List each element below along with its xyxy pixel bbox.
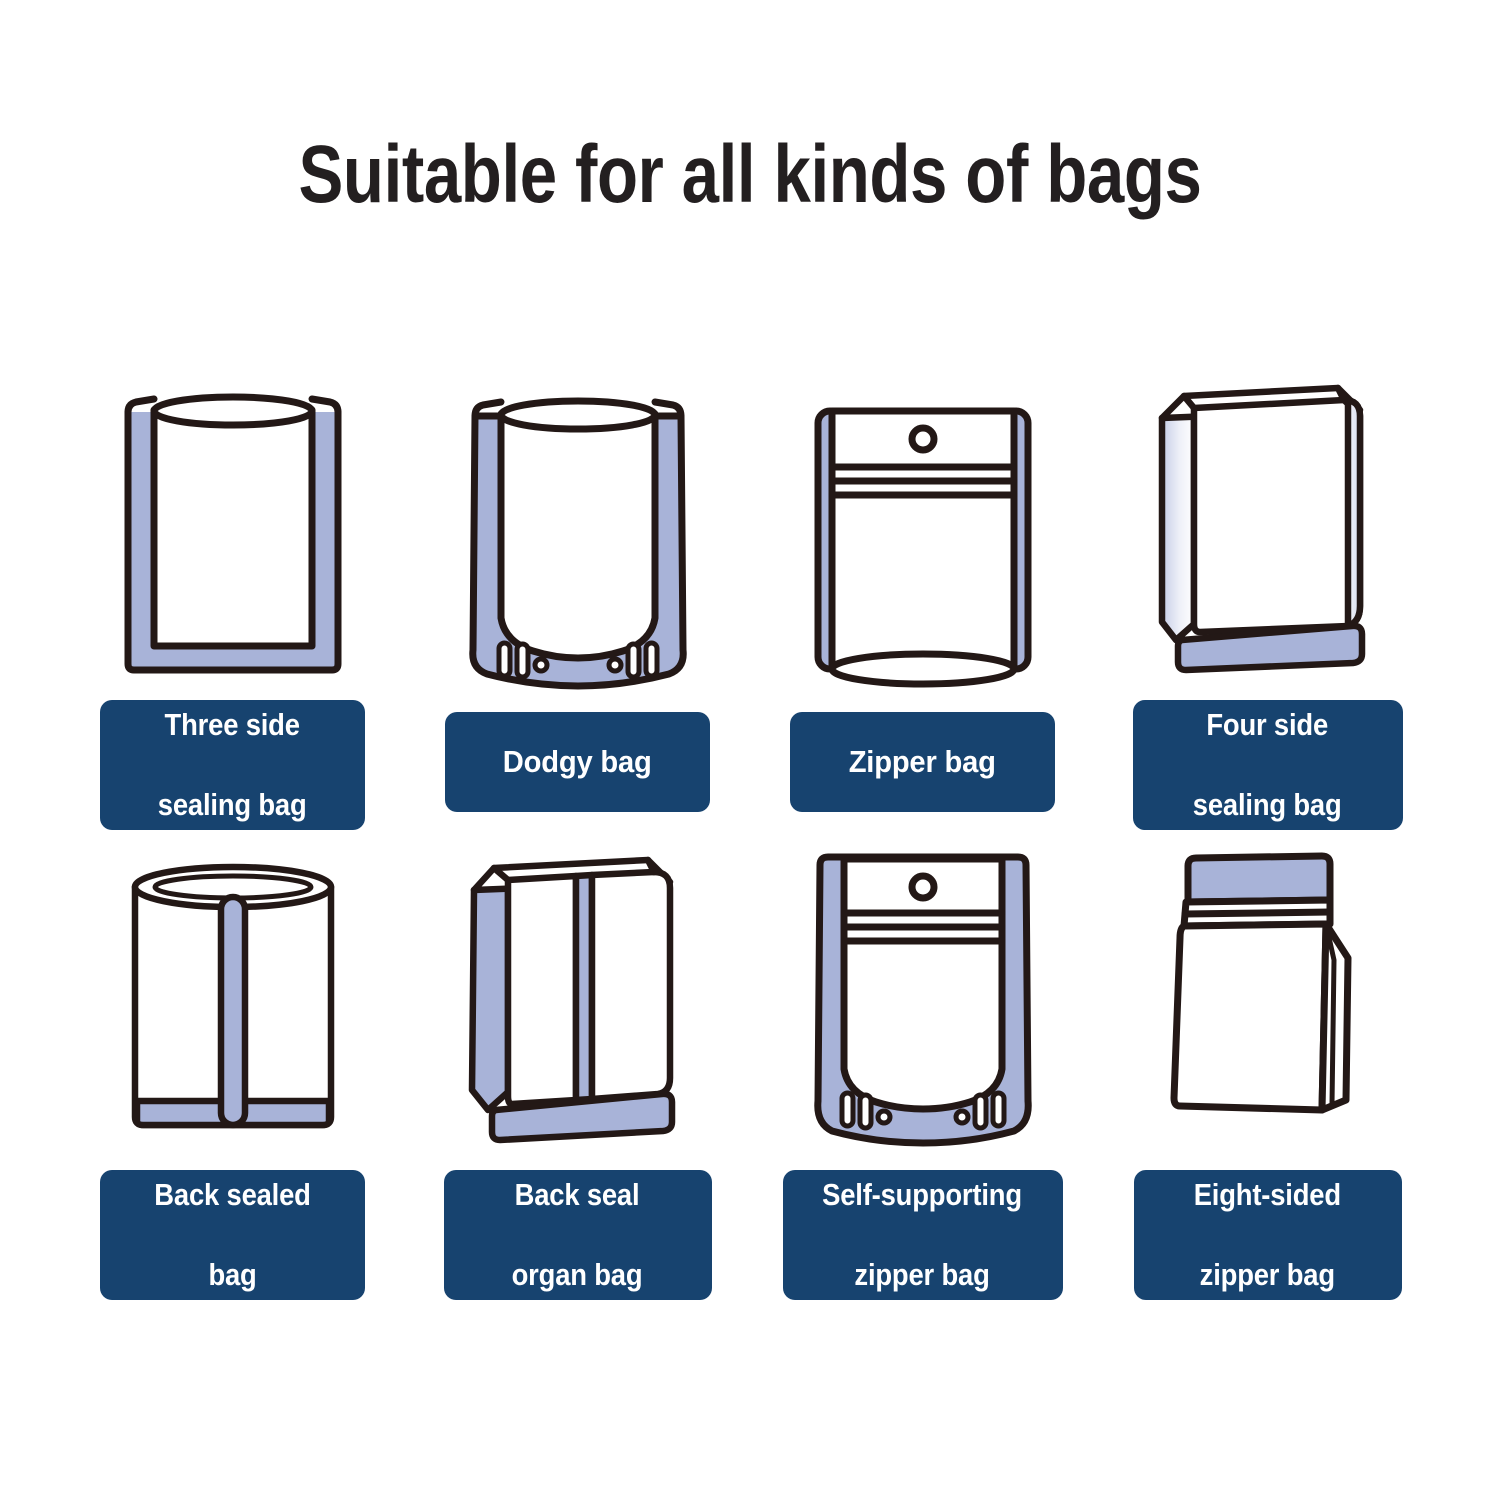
- bag-card-self-supporting-zipper-bag[interactable]: Self-supporting zipper bag: [750, 830, 1095, 1300]
- bag-card-three-side-sealing-bag[interactable]: Three side sealing bag: [60, 360, 405, 830]
- bag-card-zipper-bag[interactable]: Zipper bag: [750, 360, 1095, 830]
- bag-label-line-1: Dodgy bag: [503, 742, 652, 782]
- bag-card-back-sealed-bag[interactable]: Back sealed bag: [60, 830, 405, 1300]
- bag-label-zipper-bag[interactable]: Zipper bag: [790, 712, 1055, 812]
- bag-card-dodgy-bag[interactable]: Dodgy bag: [405, 360, 750, 830]
- bag-card-back-seal-organ-bag[interactable]: Back seal organ bag: [405, 830, 750, 1300]
- bag-label-line-1: Self-supporting: [823, 1175, 1023, 1215]
- bag-label-line-2: sealing bag: [1193, 785, 1342, 825]
- bag-card-four-side-sealing-bag[interactable]: Four side sealing bag: [1095, 360, 1440, 830]
- bag-type-grid: Three side sealing bag: [60, 360, 1440, 1300]
- bag-label-line-2: organ bag: [512, 1255, 643, 1295]
- bag-label-back-seal-organ-bag[interactable]: Back seal organ bag: [444, 1170, 712, 1301]
- bag-label-line-2: zipper bag: [823, 1255, 1023, 1295]
- bag-illustration-back-seal-organ-bag: [405, 830, 750, 1148]
- bag-label-line-1: Three side: [158, 705, 307, 745]
- bag-label-line-2: bag: [154, 1255, 310, 1295]
- bag-label-line-1: Zipper bag: [849, 742, 996, 782]
- bag-illustration-three-side-sealing-bag: [60, 360, 405, 678]
- bag-label-line-2: zipper bag: [1194, 1255, 1341, 1295]
- bag-label-three-side-sealing-bag[interactable]: Three side sealing bag: [100, 700, 365, 831]
- bag-label-four-side-sealing-bag[interactable]: Four side sealing bag: [1133, 700, 1403, 831]
- bag-label-self-supporting-zipper-bag[interactable]: Self-supporting zipper bag: [783, 1170, 1063, 1301]
- bag-label-line-1: Eight-sided: [1194, 1175, 1341, 1215]
- bag-illustration-back-sealed-bag: [60, 830, 405, 1148]
- bag-illustration-four-side-sealing-bag: [1095, 360, 1440, 678]
- bag-label-line-1: Four side: [1193, 705, 1342, 745]
- bag-illustration-eight-sided-zipper-bag: [1095, 830, 1440, 1148]
- bag-label-back-sealed-bag[interactable]: Back sealed bag: [100, 1170, 365, 1301]
- bag-label-dodgy-bag[interactable]: Dodgy bag: [445, 712, 710, 812]
- bag-label-line-1: Back sealed: [154, 1175, 310, 1215]
- bag-card-eight-sided-zipper-bag[interactable]: Eight-sided zipper bag: [1095, 830, 1440, 1300]
- bag-label-eight-sided-zipper-bag[interactable]: Eight-sided zipper bag: [1134, 1170, 1402, 1301]
- bag-illustration-dodgy-bag: [405, 360, 750, 690]
- bag-illustration-zipper-bag: [750, 360, 1095, 690]
- bag-illustration-self-supporting-zipper-bag: [750, 830, 1095, 1148]
- bag-label-line-2: sealing bag: [158, 785, 307, 825]
- poster-canvas: Suitable for all kinds of bags Three sid: [0, 0, 1500, 1500]
- bag-label-line-1: Back seal: [512, 1175, 643, 1215]
- page-title: Suitable for all kinds of bags: [135, 132, 1365, 218]
